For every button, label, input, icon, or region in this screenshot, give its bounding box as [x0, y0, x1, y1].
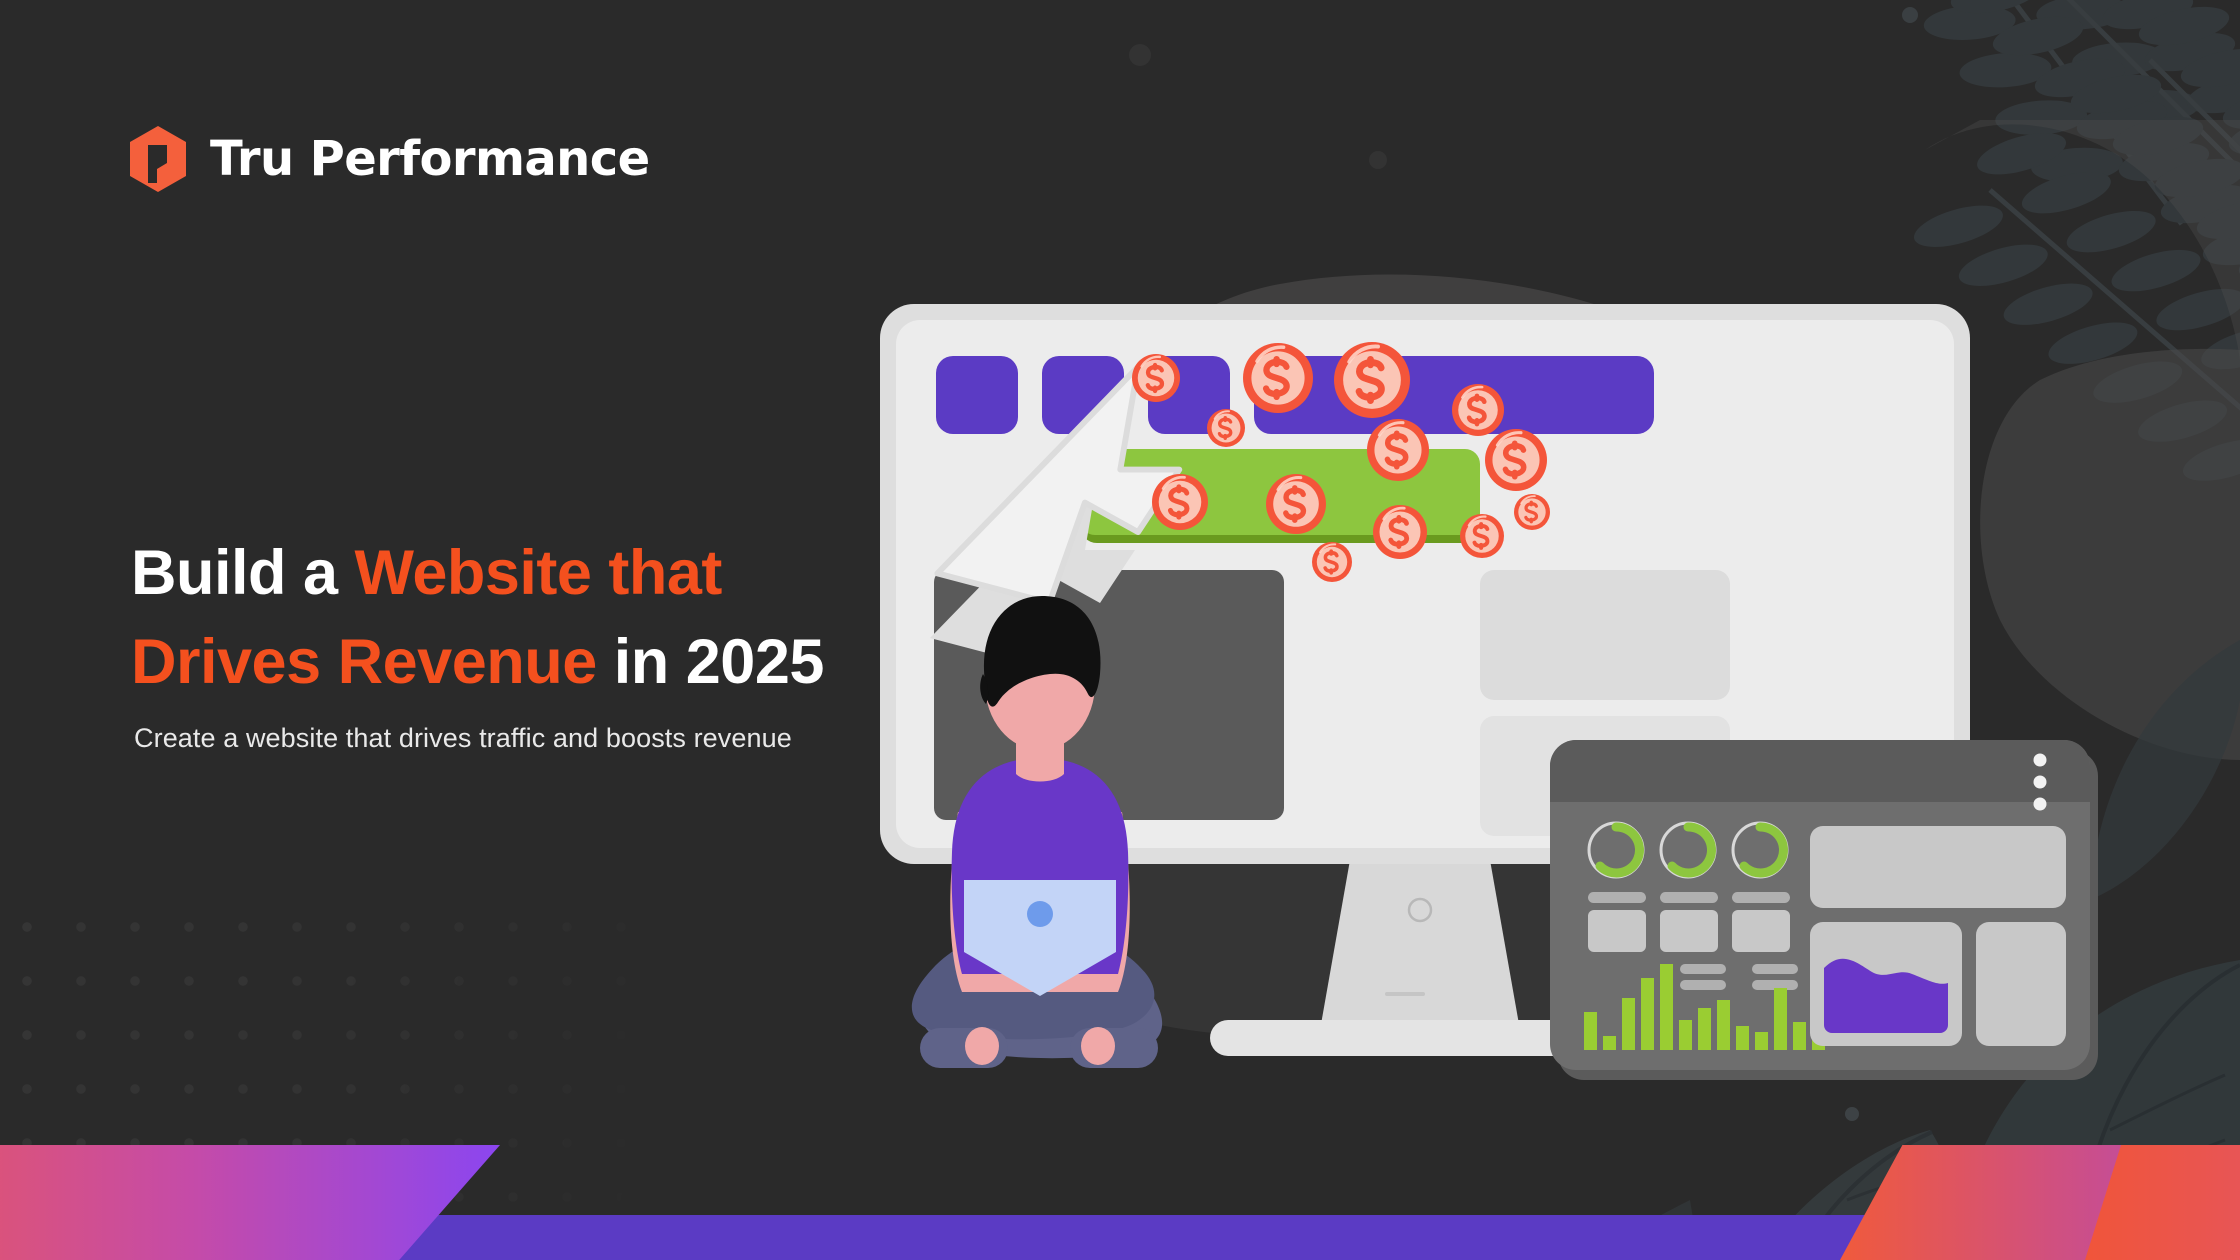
hero-banner: Tru Performance Build a Website that Dri…: [0, 0, 2240, 1260]
dollar-coin-icon: [1514, 494, 1550, 530]
headline-part-plain-2: in 2025: [597, 627, 824, 697]
dollar-coin-icon: [1243, 343, 1313, 413]
headline-line-2: Drives Revenue in 2025: [131, 618, 824, 707]
dashboard-placeholder-labels: [1588, 892, 1790, 903]
dashboard-titlebar: [1550, 740, 2090, 802]
dashboard-placeholder-cards: [1588, 910, 1790, 952]
dollar-coin-icon: [1152, 474, 1208, 530]
kebab-menu-icon: [2034, 754, 2047, 811]
dollar-coin-icon: [1132, 354, 1180, 402]
hero-illustration: [880, 250, 2240, 1080]
dollar-coin-icon: [1266, 474, 1326, 534]
headline-part-plain-1: Build a: [131, 538, 355, 608]
brand-logo[interactable]: Tru Performance: [128, 125, 650, 193]
headline-part-accent-1: Website that: [355, 538, 722, 608]
dollar-coin-icon: [1373, 505, 1427, 559]
hexagon-p-logo-icon: [128, 125, 188, 193]
headline-line-1: Build a Website that: [131, 529, 824, 618]
page-title: Build a Website that Drives Revenue in 2…: [131, 529, 824, 708]
page-subtitle: Create a website that drives traffic and…: [134, 723, 792, 754]
dashboard-window: [1550, 740, 2098, 1080]
headline-part-accent-2: Drives Revenue: [131, 627, 597, 697]
dollar-coin-icon: [1207, 409, 1245, 447]
brand-name: Tru Performance: [210, 131, 650, 187]
dollar-coin-icon: [1367, 419, 1429, 481]
dollar-coin-icon: [1460, 514, 1504, 558]
dollar-coin-icon: [1452, 384, 1504, 436]
dollar-coin-icon: [1334, 342, 1410, 418]
dollar-coin-icon: [1312, 542, 1352, 582]
dollar-coin-icon: [1485, 429, 1547, 491]
